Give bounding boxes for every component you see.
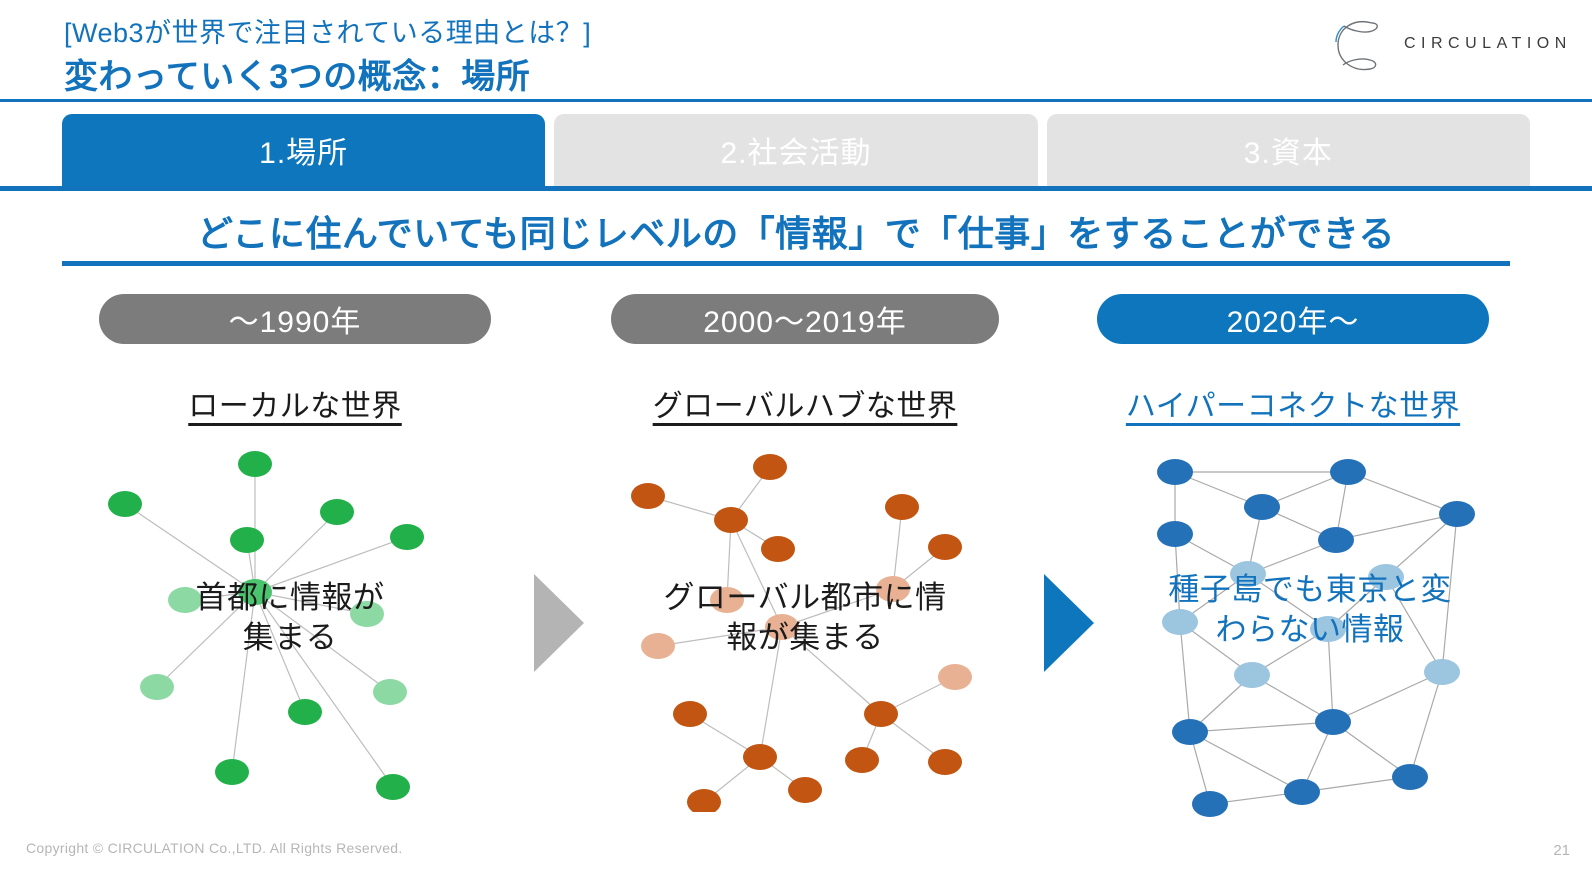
column-2: 2000〜2019年 グローバルハブな世界 (570, 294, 1040, 425)
column-label-2: グローバルハブな世界 (570, 381, 1040, 425)
page-title: 変わっていく3つの概念：場所 (64, 49, 530, 98)
graph-nodes (108, 451, 424, 800)
header-kicker: [Web3が世界で注目されている理由とは？] (64, 11, 591, 50)
circulation-ribbon-icon (1320, 14, 1392, 78)
section-subtitle: どこに住んでいても同じレベルの「情報」で「仕事」をすることができる (0, 205, 1592, 257)
graph-nodes (631, 454, 972, 812)
brand-logo: CIRCULATION (1320, 14, 1540, 78)
tab-1-place[interactable]: 1.場所 (62, 114, 545, 186)
period-pill-1: 〜1990年 (99, 294, 491, 344)
slide-root: [Web3が世界で注目されている理由とは？] 変わっていく3つの概念：場所 CI… (0, 0, 1592, 892)
period-pill-2: 2000〜2019年 (611, 294, 999, 344)
network-graph-local (95, 432, 495, 812)
transition-arrow-icon-1 (530, 572, 586, 674)
footer-page-number: 21 (1553, 842, 1570, 859)
graph-nodes (1157, 459, 1475, 817)
footer-copyright: Copyright © CIRCULATION Co.,LTD. All Rig… (26, 840, 403, 856)
column-label-1: ローカルな世界 (60, 381, 530, 425)
slide-header: [Web3が世界で注目されている理由とは？] 変わっていく3つの概念：場所 CI… (0, 0, 1592, 100)
network-graph-global-hub (600, 432, 1010, 812)
transition-arrow-icon-2 (1040, 572, 1096, 674)
logo-wordmark: CIRCULATION (1404, 35, 1572, 53)
column-1: 〜1990年 ローカルな世界 (60, 294, 530, 425)
tabs-divider (0, 186, 1592, 191)
network-graph-hyperconnected (1120, 432, 1500, 822)
subtitle-divider (62, 261, 1510, 266)
column-3: 2020年〜 ハイパーコネクトな世界 (1058, 294, 1528, 425)
column-label-3: ハイパーコネクトな世界 (1058, 381, 1528, 425)
period-pill-3: 2020年〜 (1097, 294, 1489, 344)
section-tabs: 1.場所 2.社会活動 3.資本 (62, 114, 1530, 186)
header-divider (0, 99, 1592, 102)
tab-3-capital[interactable]: 3.資本 (1047, 114, 1530, 186)
tab-2-social[interactable]: 2.社会活動 (554, 114, 1037, 186)
